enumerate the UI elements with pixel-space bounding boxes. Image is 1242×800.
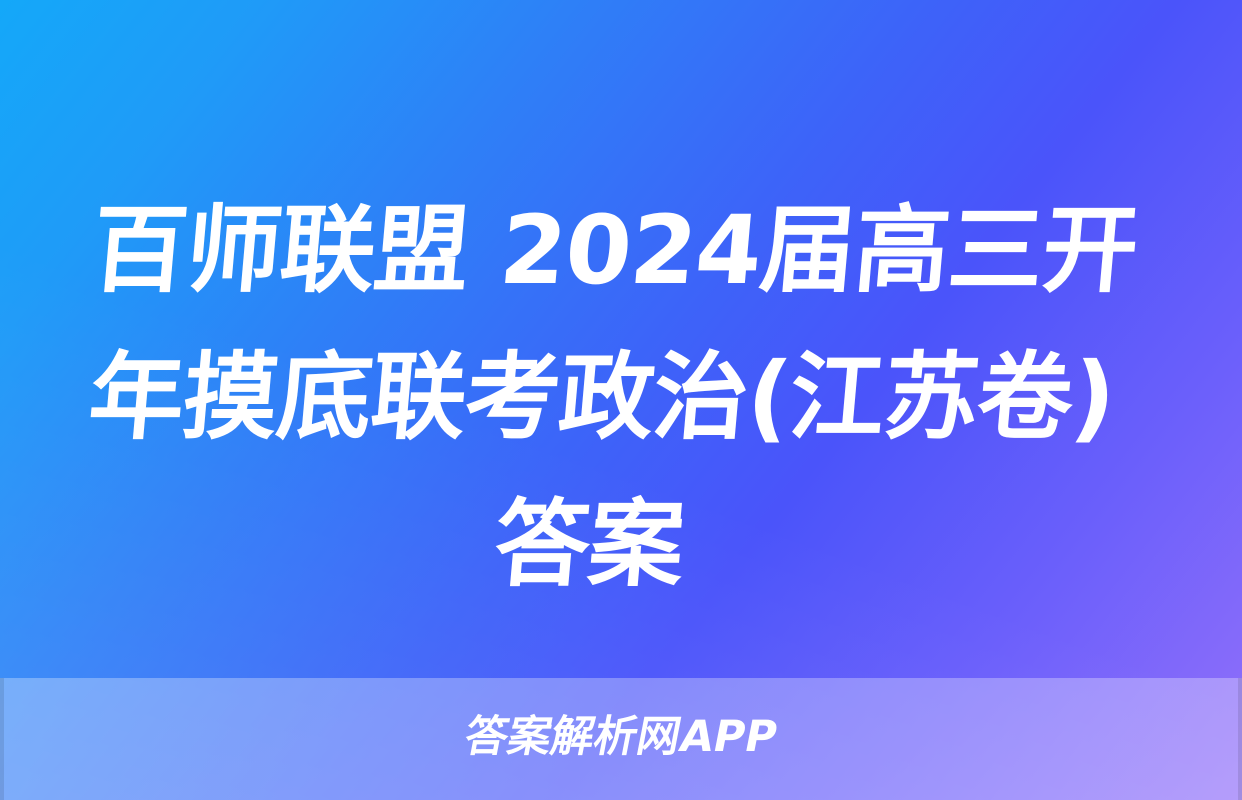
watermark-brand: 答案解析网APP bbox=[0, 708, 1242, 766]
title-container: 百师联盟 2024届高三开年摸底联考政治(江苏卷)答案 bbox=[0, 178, 1242, 619]
answer-cover-card: 百师联盟 2024届高三开年摸底联考政治(江苏卷)答案 答案解析网APP bbox=[0, 0, 1242, 800]
page-title: 百师联盟 2024届高三开年摸底联考政治(江苏卷)答案 bbox=[36, 178, 1167, 619]
